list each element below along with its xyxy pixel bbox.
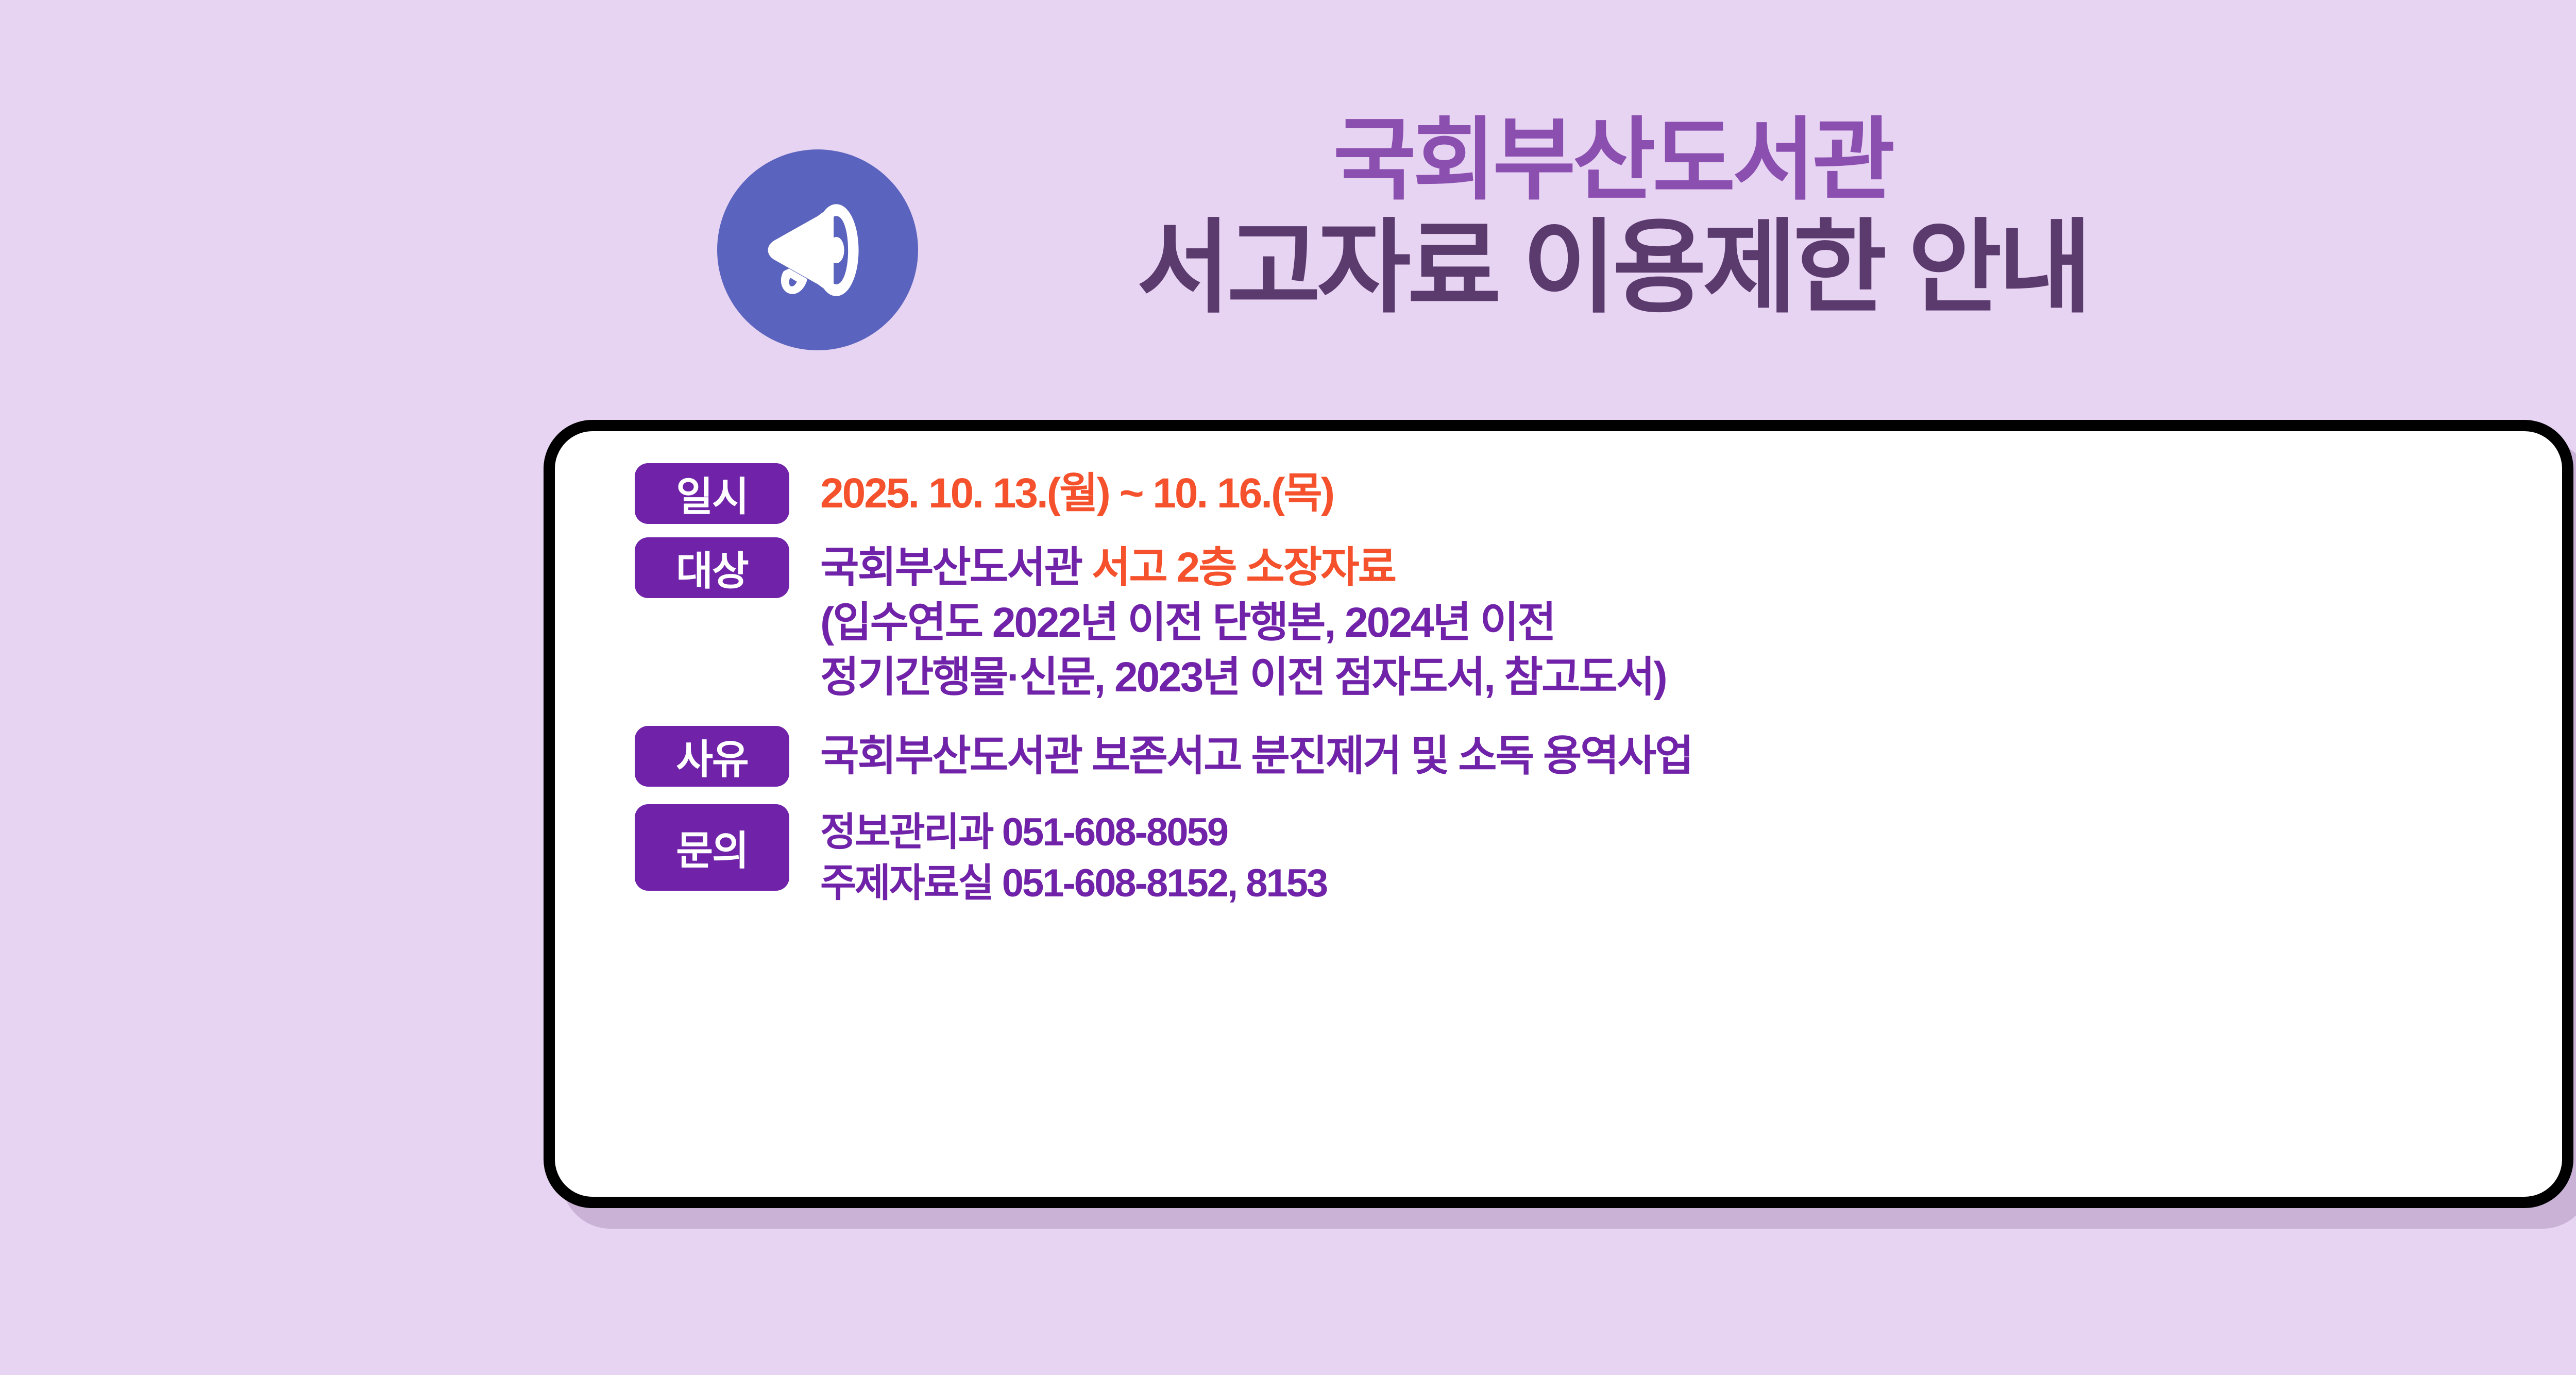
notice-card: 일시 2025. 10. 13.(월) ~ 10. 16.(목) 대상 국회부산… [544,420,2573,1208]
poster-header: 국회부산도서관 서고자료 이용제한 안내 [0,98,2576,386]
row-content-target: 국회부산도서관 서고 2층 소장자료 (입수연도 2022년 이전 단행본, 2… [789,537,2526,705]
notice-row-target: 대상 국회부산도서관 서고 2층 소장자료 (입수연도 2022년 이전 단행본… [635,537,2526,705]
notice-rows: 일시 2025. 10. 13.(월) ~ 10. 16.(목) 대상 국회부산… [555,431,2562,1197]
row-content-contact: 정보관리과 051-608-8059 주제자료실 051-608-8152, 8… [789,804,2526,909]
target-line-3: 정기간행물·신문, 2023년 이전 점자도서, 참고도서) [820,650,2526,705]
date-value: 2025. 10. 13.(월) ~ 10. 16.(목) [820,466,2526,521]
notice-row-contact: 문의 정보관리과 051-608-8059 주제자료실 051-608-8152… [635,804,2526,909]
contact-line-2: 주제자료실 051-608-8152, 8153 [820,858,2526,909]
notice-row-reason: 사유 국회부산도서관 보존서고 분진제거 및 소독 용역사업 [635,726,2526,787]
label-badge-contact: 문의 [635,804,789,891]
poster-canvas: 국회부산도서관 서고자료 이용제한 안내 일시 2025. 10. 13.(월)… [0,0,2576,1375]
label-badge-date: 일시 [635,463,789,524]
target-line-1-prefix: 국회부산도서관 [820,544,1092,591]
target-line-1: 국회부산도서관 서고 2층 소장자료 [820,540,2526,596]
title-line-2: 서고자료 이용제한 안내 [917,210,2308,326]
label-badge-target: 대상 [635,537,789,598]
row-content-date: 2025. 10. 13.(월) ~ 10. 16.(목) [789,463,2526,521]
target-line-1-highlight: 서고 2층 소장자료 [1092,544,1395,591]
reason-value: 국회부산도서관 보존서고 분진제거 및 소독 용역사업 [820,729,2526,784]
contact-line-1: 정보관리과 051-608-8059 [820,807,2526,858]
target-line-2: (입수연도 2022년 이전 단행본, 2024년 이전 [820,596,2526,651]
row-content-reason: 국회부산도서관 보존서고 분진제거 및 소독 용역사업 [789,726,2526,784]
title-line-1: 국회부산도서관 [917,108,2308,213]
notice-row-date: 일시 2025. 10. 13.(월) ~ 10. 16.(목) [635,463,2526,524]
label-badge-reason: 사유 [635,726,789,787]
poster-title: 국회부산도서관 서고자료 이용제한 안내 [917,108,2308,326]
megaphone-icon [717,149,918,350]
